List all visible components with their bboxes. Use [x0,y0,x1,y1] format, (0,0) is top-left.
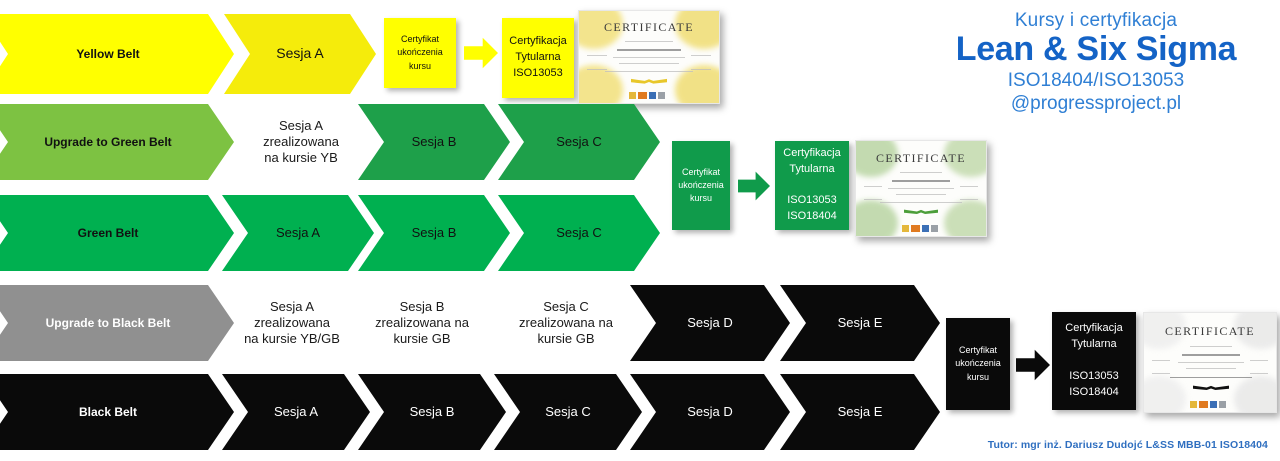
title-handle: @progressproject.pl [926,93,1266,115]
titular-certification-box-yellow[interactable]: Certyfikacja Tytularna ISO13053 [502,18,574,98]
session-label: Sesja B [402,134,467,150]
certificate-text-line [1186,368,1236,369]
certificate-logos [902,225,938,232]
slide-canvas: Yellow Belt Sesja A Certyfikat ukończeni… [0,0,1280,461]
certificate-image-yellow[interactable]: CERTIFICATE [578,10,720,104]
titular-certification-box-black[interactable]: Certyfikacja Tytularna ISO13053 ISO18404 [1052,312,1136,410]
session-label: Sesja C [546,134,612,150]
completion-line-2: ukończenia [678,180,724,190]
certificate-left-label [587,69,607,70]
session-line-3: kursie GB [537,331,594,346]
certificate-right-label [960,186,978,187]
arrow-icon-green [738,170,770,202]
completion-certificate-label: Certyfikat ukończenia kursu [391,33,449,72]
certificate-right-label [1250,360,1268,361]
certificate-text-line [619,63,679,64]
certificate-name-line [617,49,681,51]
session-label: Sesja B [400,404,465,420]
titular-line-1: Certyfikacja [509,35,566,47]
session-label: Sesja D [677,404,743,420]
certificate-left-label [1152,360,1170,361]
certificate-image-black[interactable]: CERTIFICATE [1143,312,1277,413]
title-block: Kursy i certyfikacja Lean & Six Sigma IS… [926,10,1266,115]
session-label: Sesja C zrealizowana na kursie GB [509,299,623,347]
titular-certification-label: Certyfikacja Tytularna ISO13053 ISO18404 [777,146,846,226]
title-eyebrow: Kursy i certyfikacja [926,10,1266,32]
completion-line-1: Certyfikat [682,167,720,177]
session-line-3: na kursie YB [264,150,337,165]
completion-line-1: Certyfikat [959,345,997,355]
certificate-text-line [888,188,954,189]
session-label: Sesja B zrealizowana na kursie GB [365,299,479,347]
session-chevron-yellow-sesja-a[interactable]: Sesja A [224,14,376,94]
session-chevron-black-upgrade-sesja-d[interactable]: Sesja D [630,285,790,361]
session-chevron-black-sesja-e[interactable]: Sesja E [780,374,940,450]
session-line-3: kursie GB [393,331,450,346]
belt-chevron-green-belt[interactable]: Green Belt [0,195,234,271]
logo-mark [649,92,656,99]
certificate-text-line [605,71,693,72]
session-line-2: zrealizowana [263,134,339,149]
session-label: Sesja B [402,225,467,241]
session-line-2: zrealizowana na [375,315,469,330]
tutor-credit: Tutor: mgr inż. Dariusz Dudojć L&SS MBB-… [988,439,1268,451]
session-line-1: Sesja A [270,299,314,314]
completion-line-2: ukończenia [955,358,1001,368]
completion-line-1: Certyfikat [401,34,439,44]
belt-knot-icon-green [904,206,938,219]
logo-mark [629,92,636,99]
certificate-logos [629,92,665,99]
session-label: Sesja A [266,45,333,62]
logo-mark [922,225,929,232]
certificate-text-line [1178,362,1244,363]
titular-standard-iso13053: ISO13053 [1069,370,1119,382]
session-line-2: zrealizowana na [519,315,613,330]
session-chevron-black-upgrade-sesja-e[interactable]: Sesja E [780,285,940,361]
arrow-icon-yellow [464,36,498,70]
session-label: Sesja A [266,225,330,241]
belt-label: Black Belt [69,405,147,420]
certificate-text-line [880,202,962,203]
certificate-right-label [960,199,978,200]
certificate-title: CERTIFICATE [856,151,986,166]
titular-standard-iso18404: ISO18404 [787,210,837,222]
session-line-1: Sesja B [400,299,445,314]
logo-mark [911,225,920,232]
session-line-1: Sesja C [543,299,589,314]
certificate-image-green[interactable]: CERTIFICATE [855,140,987,237]
titular-line-1: Certyfikacja [783,147,840,159]
certificate-title: CERTIFICATE [579,20,719,35]
certificate-logos [1190,401,1226,408]
logo-mark [1199,401,1208,408]
certificate-left-label [864,186,882,187]
session-chevron-black-sesja-c[interactable]: Sesja C [494,374,642,450]
session-label: Sesja E [828,404,893,420]
certificate-title: CERTIFICATE [1144,324,1276,339]
session-chevron-green-upgrade-sesja-a-done[interactable]: Sesja A zrealizowana na kursie YB [222,104,380,180]
session-label: Sesja A zrealizowana na kursie YB/GB [234,299,350,347]
session-chevron-black-sesja-a[interactable]: Sesja A [222,374,370,450]
session-label: Sesja D [677,315,743,331]
completion-line-3: kursu [409,61,431,71]
belt-chevron-upgrade-green-belt[interactable]: Upgrade to Green Belt [0,104,234,180]
belt-chevron-black-belt[interactable]: Black Belt [0,374,234,450]
title-standards: ISO18404/ISO13053 [926,70,1266,92]
titular-certification-box-green[interactable]: Certyfikacja Tytularna ISO13053 ISO18404 [775,141,849,230]
titular-standard-iso13053: ISO13053 [513,67,563,79]
belt-label: Upgrade to Black Belt [36,316,181,331]
titular-certification-label: Certyfikacja Tytularna ISO13053 ISO18404 [1059,321,1128,401]
session-chevron-black-upgrade-sesja-b-done[interactable]: Sesja B zrealizowana na kursie GB [352,285,492,361]
titular-line-1: Certyfikacja [1065,322,1122,334]
belt-knot-icon-yellow [631,75,667,89]
session-chevron-green-upgrade-sesja-c[interactable]: Sesja C [498,104,660,180]
certificate-text-line [896,194,946,195]
session-line-3: na kursie YB/GB [244,331,340,346]
completion-line-2: ukończenia [397,47,443,57]
completion-certificate-box-yellow[interactable]: Certyfikat ukończenia kursu [384,18,456,88]
certificate-text-line [1170,377,1252,378]
titular-standard-iso13053: ISO13053 [787,194,837,206]
session-label: Sesja A [264,404,328,420]
belt-chevron-upgrade-black-belt[interactable]: Upgrade to Black Belt [0,285,234,361]
session-chevron-green-sesja-c[interactable]: Sesja C [498,195,660,271]
titular-line-2: Tytularna [515,51,560,63]
titular-certification-label: Certyfikacja Tytularna ISO13053 [503,34,572,82]
page-title: Lean & Six Sigma [926,30,1266,69]
completion-certificate-box-green[interactable]: Certyfikat ukończenia kursu [672,141,730,230]
titular-standard-iso18404: ISO18404 [1069,386,1119,398]
session-chevron-black-sesja-b[interactable]: Sesja B [358,374,506,450]
session-chevron-green-upgrade-sesja-b[interactable]: Sesja B [358,104,510,180]
session-label: Sesja E [828,315,893,331]
session-label: Sesja C [535,404,601,420]
completion-certificate-label: Certyfikat ukończenia kursu [672,166,730,205]
session-chevron-green-sesja-b[interactable]: Sesja B [358,195,510,271]
arrow-icon-black [1016,348,1050,382]
logo-mark [1190,401,1197,408]
completion-line-3: kursu [967,372,989,382]
certificate-left-label [587,55,607,56]
logo-mark [638,92,647,99]
titular-line-2: Tytularna [789,163,834,175]
certificate-right-label [691,55,711,56]
completion-certificate-label: Certyfikat ukończenia kursu [949,344,1007,383]
session-line-1: Sesja A [279,118,323,133]
belt-label: Green Belt [68,226,149,241]
completion-line-3: kursu [690,193,712,203]
logo-mark [1210,401,1217,408]
belt-label: Upgrade to Green Belt [34,135,181,150]
belt-label: Yellow Belt [66,47,149,62]
session-label: Sesja A zrealizowana na kursie YB [253,118,349,166]
certificate-name-line [892,180,950,182]
session-chevron-green-sesja-a[interactable]: Sesja A [222,195,374,271]
logo-mark [1219,401,1226,408]
session-chevron-black-upgrade-sesja-a-done[interactable]: Sesja A zrealizowana na kursie YB/GB [222,285,362,361]
certificate-text-line [613,57,685,58]
certificate-left-label [864,199,882,200]
certificate-text-line [1190,346,1232,347]
certificate-text-line [625,41,673,42]
certificate-right-label [1250,373,1268,374]
session-chevron-black-sesja-d[interactable]: Sesja D [630,374,790,450]
belt-chevron-yellow-belt[interactable]: Yellow Belt [0,14,234,94]
certificate-left-label [1152,373,1170,374]
session-chevron-black-upgrade-sesja-c-done[interactable]: Sesja C zrealizowana na kursie GB [492,285,640,361]
certificate-name-line [1182,354,1240,356]
titular-line-2: Tytularna [1071,338,1116,350]
completion-certificate-box-black[interactable]: Certyfikat ukończenia kursu [946,318,1010,410]
logo-mark [658,92,665,99]
session-label: Sesja C [546,225,612,241]
certificate-text-line [900,172,942,173]
belt-knot-icon-black [1193,382,1229,395]
logo-mark [931,225,938,232]
logo-mark [902,225,909,232]
session-line-2: zrealizowana [254,315,330,330]
certificate-right-label [691,69,711,70]
